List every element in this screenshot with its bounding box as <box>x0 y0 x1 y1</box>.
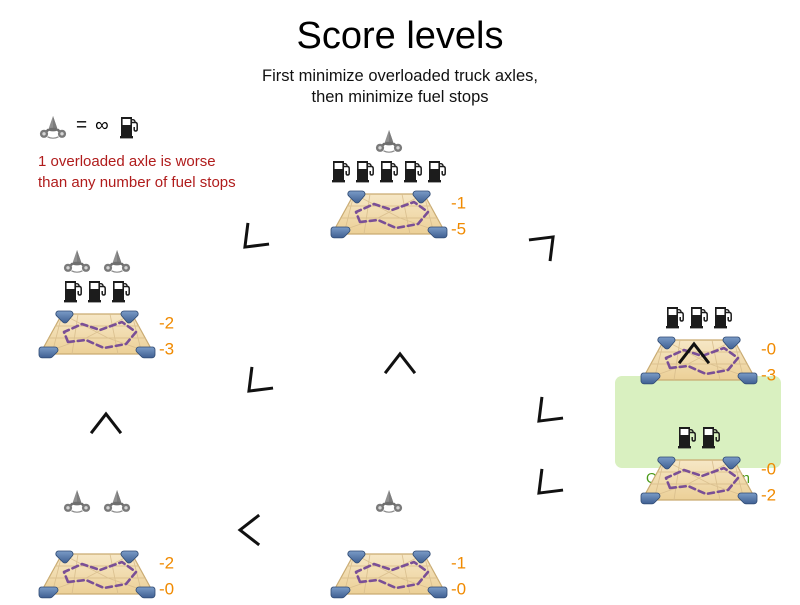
score-labels: -0-3 <box>761 334 776 391</box>
fuel-pump-row <box>331 154 447 184</box>
overloaded-axle-icon <box>374 128 404 154</box>
fuel-pump-icon <box>701 424 721 450</box>
route-map[interactable]: -2-0 <box>38 548 156 605</box>
overloaded-axle-icon <box>62 248 92 274</box>
fuel-pump-icon <box>713 304 733 330</box>
overloaded-axle-row <box>374 484 404 514</box>
fuel-pump-icon <box>63 278 83 304</box>
legend: = ∞ 1 overloaded axle is worse than any … <box>38 112 298 193</box>
less-than-operator <box>234 362 278 406</box>
fuel-pump-icon <box>403 158 423 184</box>
less-than-operator <box>524 464 568 508</box>
overloaded-axle-row <box>374 124 404 154</box>
score-labels: -1-0 <box>451 548 466 605</box>
soft-score: -2 <box>761 483 776 509</box>
hard-score: -2 <box>159 551 174 577</box>
legend-note-line-1: 1 overloaded axle is worse <box>38 151 298 172</box>
solution-node-left[interactable]: -2-3 <box>38 244 156 365</box>
overloaded-axle-row <box>62 484 132 514</box>
score-levels-diagram: Score levels First minimize overloaded t… <box>0 0 800 600</box>
solution-node-top[interactable]: -1-5 <box>330 124 448 245</box>
equals-sign: = <box>74 116 89 139</box>
score-labels: -1-5 <box>451 188 466 245</box>
score-labels: -2-3 <box>159 308 174 365</box>
overloaded-axle-icon <box>102 488 132 514</box>
legend-note: 1 overloaded axle is worse than any numb… <box>38 151 298 193</box>
fuel-pump-icon <box>119 114 139 140</box>
hard-score: -1 <box>451 191 466 217</box>
fuel-pump-icon <box>331 158 351 184</box>
less-than-operator <box>230 218 274 262</box>
less-than-operator <box>84 402 128 446</box>
fuel-pump-row <box>63 274 131 304</box>
fuel-pump-icon <box>427 158 447 184</box>
route-map[interactable]: -1-0 <box>330 548 448 605</box>
overloaded-axle-row <box>62 244 132 274</box>
hard-score: -1 <box>451 551 466 577</box>
less-than-operator <box>228 508 272 552</box>
fuel-pump-icon <box>665 304 685 330</box>
fuel-pump-icon <box>355 158 375 184</box>
fuel-pump-row <box>677 420 721 450</box>
soft-score: -0 <box>451 577 466 603</box>
less-than-operator <box>672 332 716 376</box>
legend-note-line-2: than any number of fuel stops <box>38 172 298 193</box>
less-than-operator <box>378 342 422 386</box>
score-labels: -2-0 <box>159 548 174 605</box>
fuel-pump-icon <box>87 278 107 304</box>
legend-equation: = ∞ <box>38 112 298 142</box>
solution-node-bottom-left[interactable]: -2-0 <box>38 484 156 605</box>
route-map[interactable]: -1-5 <box>330 188 448 245</box>
overloaded-axle-icon <box>374 488 404 514</box>
hard-score: -2 <box>159 311 174 337</box>
less-than-operator <box>524 392 568 436</box>
overloaded-axle-icon <box>38 114 68 140</box>
soft-score: -5 <box>451 217 466 243</box>
fuel-pump-icon <box>379 158 399 184</box>
page-title: Score levels <box>0 14 800 58</box>
hard-score: -0 <box>761 337 776 363</box>
less-than-operator <box>524 222 568 266</box>
fuel-pump-icon <box>689 304 709 330</box>
soft-score: -0 <box>159 577 174 603</box>
solution-node-optimal[interactable]: -0-2 <box>640 390 758 511</box>
fuel-pump-icon <box>111 278 131 304</box>
soft-score: -3 <box>159 337 174 363</box>
route-map[interactable]: -2-3 <box>38 308 156 365</box>
overloaded-axle-icon <box>62 488 92 514</box>
solution-node-bottom-center[interactable]: -1-0 <box>330 484 448 605</box>
page-subtitle: First minimize overloaded truck axles, t… <box>0 66 800 108</box>
route-map[interactable]: -0-2 <box>640 454 758 511</box>
fuel-pump-row <box>665 300 733 330</box>
fuel-pump-icon <box>677 424 697 450</box>
soft-score: -3 <box>761 363 776 389</box>
hard-score: -0 <box>761 457 776 483</box>
subtitle-line-2: then minimize fuel stops <box>0 87 800 108</box>
subtitle-line-1: First minimize overloaded truck axles, <box>0 66 800 87</box>
overloaded-axle-icon <box>102 248 132 274</box>
score-labels: -0-2 <box>761 454 776 511</box>
infinity-sign: ∞ <box>95 116 113 139</box>
